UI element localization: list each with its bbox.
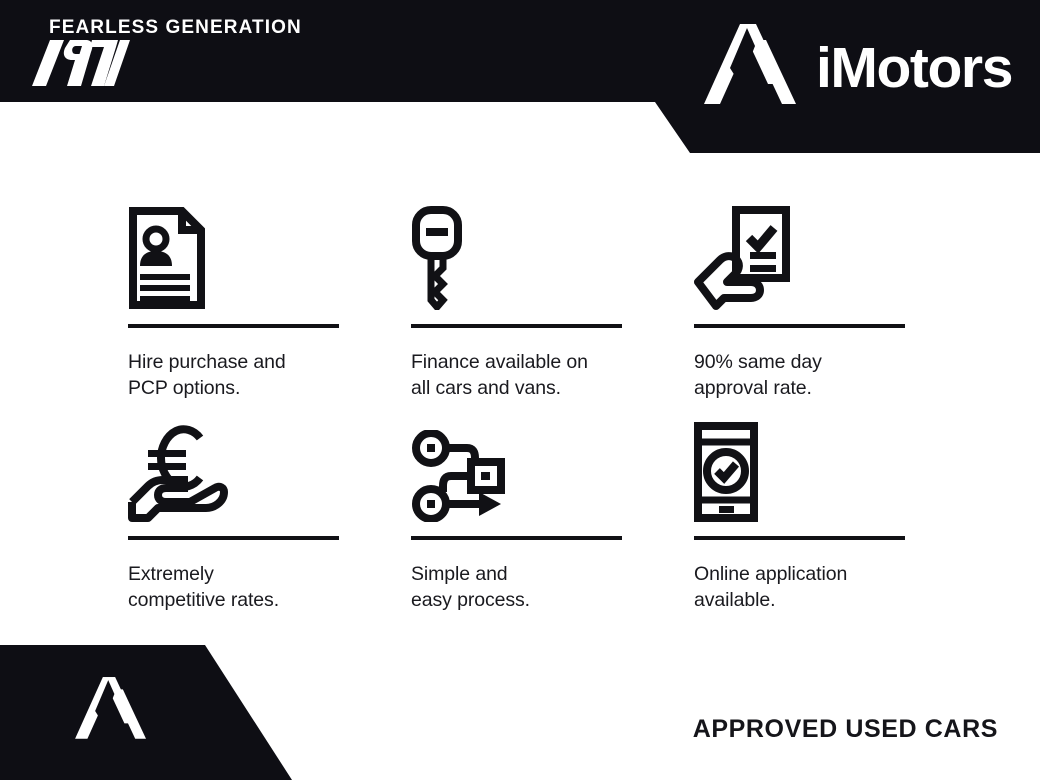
features-grid: Hire purchase and PCP options. Finance a… [128,192,918,614]
brand-name: iMotors [816,40,1012,97]
year-1971-logo [30,38,130,86]
feature-card: Simple and easy process. [411,404,694,614]
footer-banner [0,645,300,780]
divider-rule [411,324,622,328]
feature-card: Hire purchase and PCP options. [128,192,411,404]
feature-card: 90% same day approval rate. [694,192,918,404]
feature-caption: Hire purchase and PCP options. [128,349,411,401]
car-key-icon [411,192,694,310]
feature-card: Extremely competitive rates. [128,404,411,614]
feature-caption: Finance available on all cars and vans. [411,349,694,401]
hand-euro-icon [128,404,411,522]
feature-card: Finance available on all cars and vans. [411,192,694,404]
document-person-icon [128,192,411,310]
divider-rule [128,324,339,328]
poster-canvas: FEARLESS GENERATION iMotors [0,0,1040,780]
mobile-check-icon [694,404,918,522]
feature-caption: Online application available. [694,561,918,613]
feature-caption: Simple and easy process. [411,561,694,613]
hand-checklist-icon [694,192,918,310]
imotors-chevron-logo-icon [72,668,146,754]
divider-rule [694,536,905,540]
header-tagline: FEARLESS GENERATION [49,18,302,37]
divider-rule [694,324,905,328]
feature-card: Online application available. [694,404,918,614]
divider-rule [128,536,339,540]
feature-caption: 90% same day approval rate. [694,349,918,401]
process-flow-icon [411,404,694,522]
brand-lockup: iMotors [700,18,1012,118]
divider-rule [411,536,622,540]
footer-tagline: APPROVED USED CARS [693,715,998,744]
feature-caption: Extremely competitive rates. [128,561,411,613]
imotors-chevron-logo-icon [700,18,796,118]
